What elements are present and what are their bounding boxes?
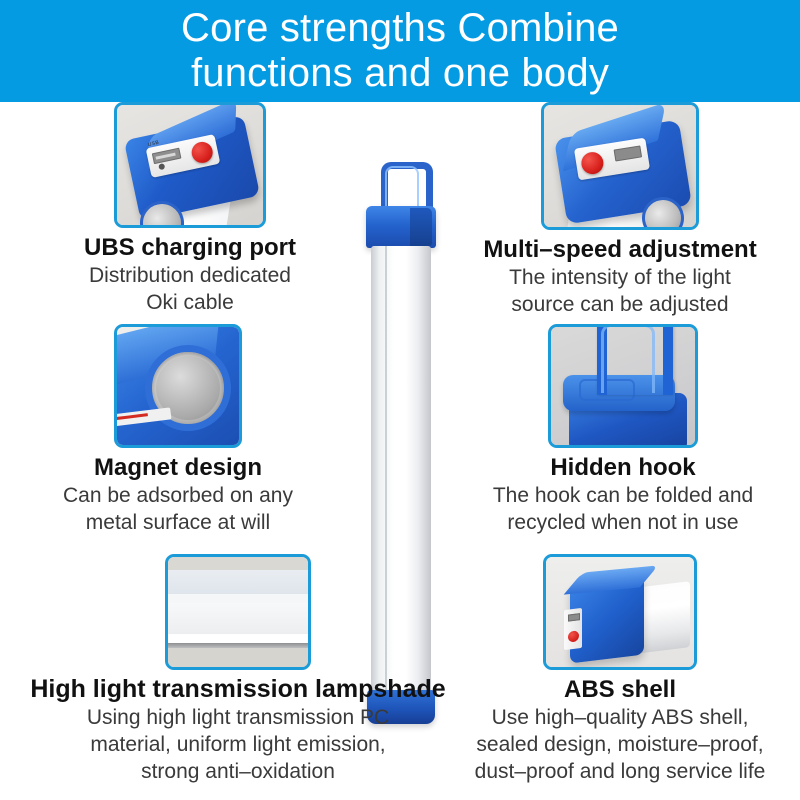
- hook-handle-highlight: [601, 324, 655, 393]
- magnet-design-thumbnail[interactable]: [114, 324, 242, 448]
- photo-band-highlight: [168, 634, 308, 643]
- feature-desc-line-1: Using high light transmission PC: [8, 705, 468, 731]
- lampshade-thumbnail[interactable]: [165, 554, 311, 670]
- feature-usb-charging-port: USB UBS charging port Distribution dedic…: [22, 102, 358, 316]
- usb-port-icon: [568, 613, 580, 621]
- photo-control-panel: [564, 608, 582, 650]
- feature-desc-line-2: recycled when not in use: [458, 510, 788, 536]
- feature-desc-line-1: Distribution dedicated: [22, 263, 358, 289]
- photo-band-mid-light: [168, 594, 308, 603]
- banner-title-line-1: Core strengths Combine: [181, 6, 619, 51]
- feature-desc-line-2: sealed design, moisture–proof,: [448, 732, 792, 758]
- feature-desc-line-1: Use high–quality ABS shell,: [448, 705, 792, 731]
- hero-top-cap: [366, 206, 436, 248]
- header-banner: Core strengths Combine functions and one…: [0, 0, 800, 102]
- feature-desc-line-1: Can be adsorbed on any: [22, 483, 334, 509]
- feature-desc-line-3: strong anti–oxidation: [8, 759, 468, 785]
- feature-high-light-transmission-lampshade: High light transmission lampshade Using …: [8, 554, 468, 785]
- abs-shell-thumbnail[interactable]: [543, 554, 697, 670]
- photo-band-body: [168, 603, 308, 634]
- hidden-hook-thumbnail[interactable]: [548, 324, 698, 448]
- feature-multi-speed-adjustment: Multi–speed adjustment The intensity of …: [452, 102, 788, 318]
- usb-port-icon: [152, 148, 182, 165]
- feature-magnet-design: Magnet design Can be adsorbed on any met…: [22, 324, 334, 536]
- power-button-icon: [580, 151, 605, 176]
- feature-title: UBS charging port: [22, 233, 358, 262]
- photo-band-upper: [168, 570, 308, 594]
- power-button-icon: [568, 630, 579, 642]
- feature-title: Hidden hook: [458, 453, 788, 482]
- feature-desc-line-2: source can be adjusted: [452, 292, 788, 318]
- feature-title: Multi–speed adjustment: [452, 235, 788, 264]
- power-button-icon: [190, 140, 215, 165]
- banner-title-line-2: functions and one body: [191, 51, 609, 96]
- feature-desc-line-3: dust–proof and long service life: [448, 759, 792, 785]
- photo-usb-label: USB: [147, 140, 160, 149]
- feature-desc-line-1: The intensity of the light: [452, 265, 788, 291]
- content-stage: USB UBS charging port Distribution dedic…: [0, 102, 800, 800]
- feature-title: ABS shell: [448, 675, 792, 704]
- led-indicator-icon: [158, 163, 165, 170]
- feature-hidden-hook: Hidden hook The hook can be folded and r…: [458, 324, 788, 536]
- feature-title: High light transmission lampshade: [8, 675, 468, 704]
- feature-abs-shell: ABS shell Use high–quality ABS shell, se…: [448, 554, 792, 785]
- feature-desc-line-2: Oki cable: [22, 290, 358, 316]
- feature-desc-line-2: metal surface at will: [22, 510, 334, 536]
- feature-desc-line-1: The hook can be folded and: [458, 483, 788, 509]
- usb-charging-port-thumbnail[interactable]: USB: [114, 102, 266, 228]
- feature-title: Magnet design: [22, 453, 334, 482]
- usb-port-icon: [614, 145, 643, 161]
- multi-speed-thumbnail[interactable]: [541, 102, 699, 230]
- photo-band-surface: [168, 648, 308, 667]
- feature-desc-line-2: material, uniform light emission,: [8, 732, 468, 758]
- photo-band-top: [168, 557, 308, 570]
